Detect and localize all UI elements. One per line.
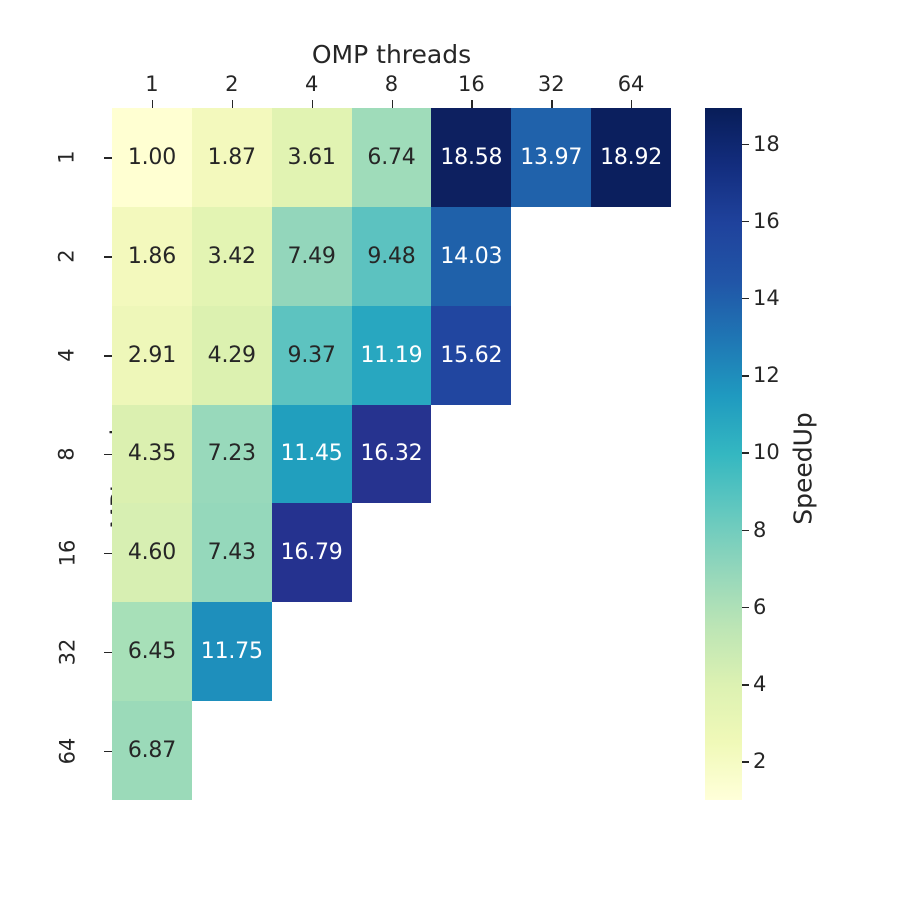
heatmap-cell-empty (511, 306, 591, 405)
colorbar-tick-mark-14 (742, 298, 749, 299)
colorbar-tick-mark-2 (742, 761, 749, 762)
heatmap-cell-empty (591, 701, 671, 800)
heatmap-cell: 3.42 (192, 207, 272, 306)
heatmap-cell: 7.43 (192, 503, 272, 602)
y-tick-label-text: 32 (55, 638, 79, 665)
y-tick-label-text: 2 (55, 250, 79, 263)
x-tick-label-2: 2 (192, 72, 272, 96)
heatmap-cell: 14.03 (431, 207, 511, 306)
y-tick-label-text: 4 (55, 348, 79, 361)
colorbar-tick-mark-8 (742, 530, 749, 531)
x-tick-label-32: 32 (511, 72, 591, 96)
colorbar-tick-label-16: 16 (753, 209, 780, 233)
heatmap-cell: 11.45 (272, 405, 352, 504)
heatmap-cell-empty (431, 503, 511, 602)
heatmap-cell-empty (591, 503, 671, 602)
colorbar-tick-mark-18 (742, 144, 749, 145)
y-tick-label-64: 64 (46, 701, 88, 800)
y-tick-label-32: 32 (46, 602, 88, 701)
heatmap-cell-empty (511, 602, 591, 701)
colorbar-tick-label-2: 2 (753, 749, 766, 773)
y-tick-mark-4 (104, 355, 112, 356)
x-axis-title: OMP threads (112, 40, 671, 69)
y-tick-label-text: 16 (55, 539, 79, 566)
heatmap-cell: 2.91 (112, 306, 192, 405)
x-tick-mark-8 (392, 100, 393, 108)
colorbar-tick-mark-4 (742, 684, 749, 685)
heatmap-cell-empty (352, 503, 432, 602)
colorbar-tick-label-18: 18 (753, 132, 780, 156)
y-tick-label-8: 8 (46, 405, 88, 504)
x-tick-label-8: 8 (352, 72, 432, 96)
heatmap-cell-empty (591, 405, 671, 504)
heatmap-cell: 18.58 (431, 108, 511, 207)
heatmap-cell-empty (352, 602, 432, 701)
y-tick-label-text: 64 (55, 737, 79, 764)
y-tick-label-1: 1 (46, 108, 88, 207)
heatmap-cell: 6.45 (112, 602, 192, 701)
heatmap-cell-empty (352, 701, 432, 800)
y-tick-mark-16 (104, 553, 112, 554)
heatmap-cell: 7.23 (192, 405, 272, 504)
y-tick-mark-64 (104, 751, 112, 752)
heatmap-cell: 6.87 (112, 701, 192, 800)
colorbar-tick-label-12: 12 (753, 363, 780, 387)
y-tick-mark-8 (104, 454, 112, 455)
colorbar-tick-label-8: 8 (753, 518, 766, 542)
heatmap-cell: 11.19 (352, 306, 432, 405)
colorbar-tick-label-14: 14 (753, 286, 780, 310)
heatmap-cell: 1.87 (192, 108, 272, 207)
heatmap-cell-empty (192, 701, 272, 800)
heatmap-cell: 13.97 (511, 108, 591, 207)
x-tick-label-16: 16 (431, 72, 511, 96)
colorbar-tick-mark-6 (742, 607, 749, 608)
x-tick-label-64: 64 (591, 72, 671, 96)
heatmap-cell-empty (431, 405, 511, 504)
heatmap-cell-empty (431, 602, 511, 701)
colorbar[interactable] (705, 108, 742, 800)
heatmap-cell: 6.74 (352, 108, 432, 207)
heatmap-cell-empty (431, 701, 511, 800)
heatmap-cell-empty (511, 503, 591, 602)
heatmap-cell: 9.48 (352, 207, 432, 306)
heatmap-cell: 4.60 (112, 503, 192, 602)
heatmap-cell: 4.29 (192, 306, 272, 405)
x-tick-mark-64 (631, 100, 632, 108)
heatmap-cell-empty (591, 207, 671, 306)
heatmap-cell: 15.62 (431, 306, 511, 405)
heatmap-cell-empty (591, 306, 671, 405)
heatmap-grid: 1.001.873.616.7418.5813.9718.921.863.427… (112, 108, 671, 800)
heatmap-cell: 3.61 (272, 108, 352, 207)
heatmap-cell-empty (511, 405, 591, 504)
y-tick-label-text: 8 (55, 447, 79, 460)
y-tick-label-2: 2 (46, 207, 88, 306)
heatmap-cell: 16.32 (352, 405, 432, 504)
heatmap-cell: 18.92 (591, 108, 671, 207)
colorbar-title: SpeedUp (789, 189, 818, 749)
y-tick-label-16: 16 (46, 503, 88, 602)
y-tick-label-4: 4 (46, 306, 88, 405)
x-tick-mark-2 (232, 100, 233, 108)
heatmap-cell-empty (511, 701, 591, 800)
colorbar-tick-mark-12 (742, 375, 749, 376)
heatmap-cell: 16.79 (272, 503, 352, 602)
colorbar-tick-label-4: 4 (753, 672, 766, 696)
x-tick-mark-4 (312, 100, 313, 108)
heatmap-figure: OMP threads MPI ranks SpeedUp 1248163264… (0, 0, 900, 900)
y-tick-mark-32 (104, 652, 112, 653)
colorbar-tick-label-6: 6 (753, 595, 766, 619)
heatmap-cell: 1.86 (112, 207, 192, 306)
heatmap-cell: 9.37 (272, 306, 352, 405)
colorbar-tick-mark-10 (742, 452, 749, 453)
colorbar-tick-mark-16 (742, 221, 749, 222)
y-tick-mark-1 (104, 157, 112, 158)
heatmap-cell: 7.49 (272, 207, 352, 306)
colorbar-gradient (705, 108, 742, 800)
x-tick-mark-1 (152, 100, 153, 108)
heatmap-cell-empty (272, 602, 352, 701)
y-tick-mark-2 (104, 256, 112, 257)
colorbar-tick-label-10: 10 (753, 440, 780, 464)
x-tick-mark-16 (471, 100, 472, 108)
heatmap-cell: 1.00 (112, 108, 192, 207)
x-tick-label-4: 4 (272, 72, 352, 96)
heatmap-cell: 4.35 (112, 405, 192, 504)
x-tick-label-1: 1 (112, 72, 192, 96)
heatmap-cell-empty (591, 602, 671, 701)
heatmap-cell-empty (272, 701, 352, 800)
heatmap-cell: 11.75 (192, 602, 272, 701)
x-tick-mark-32 (551, 100, 552, 108)
heatmap-cell: 16.31 (511, 207, 591, 306)
y-tick-label-text: 1 (55, 151, 79, 164)
